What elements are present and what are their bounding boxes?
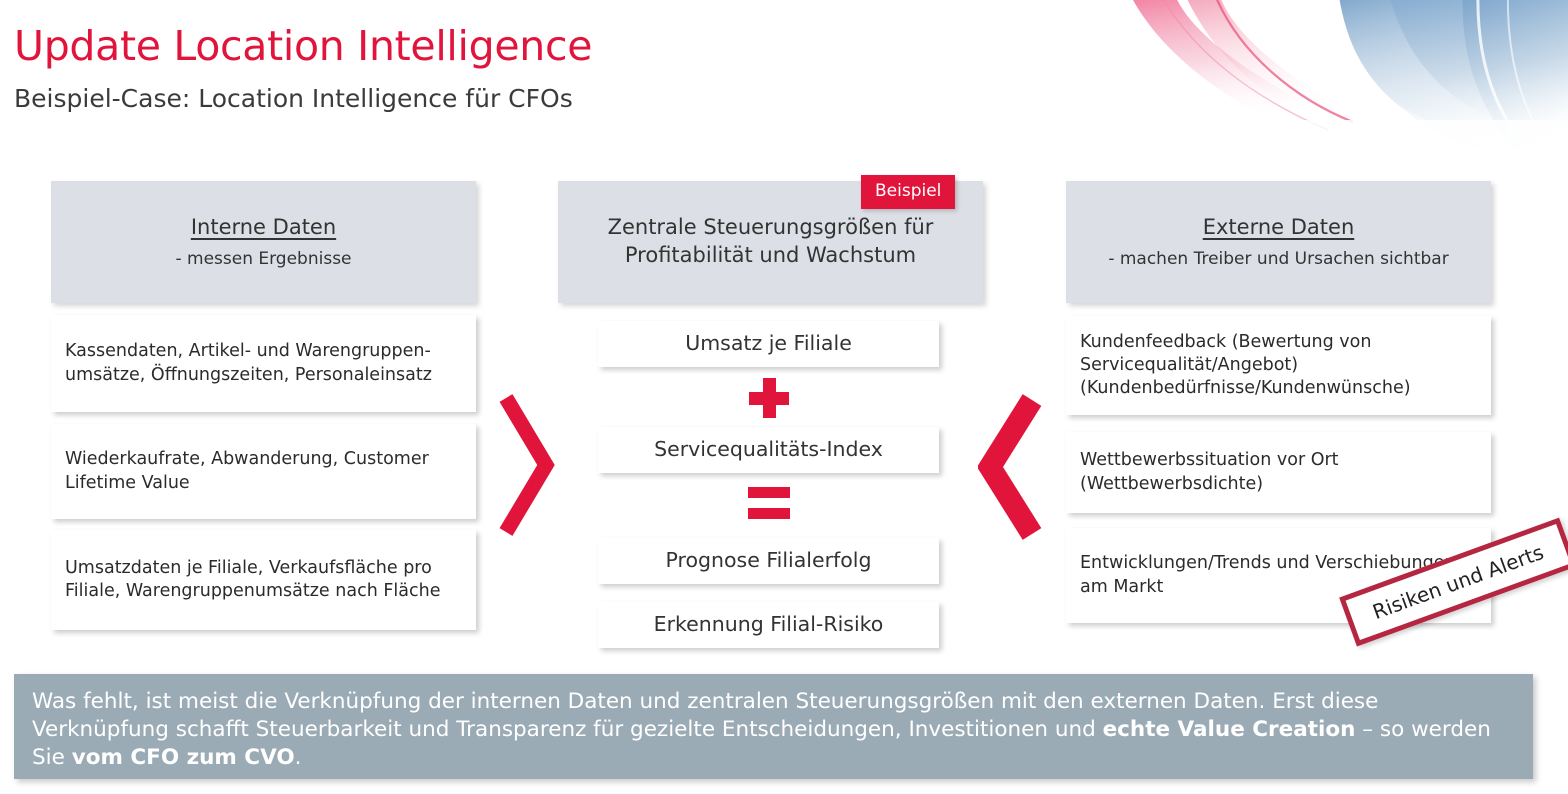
chevron-left-icon	[978, 392, 1048, 542]
page-title: Update Location Intelligence	[14, 22, 592, 70]
right-item-card[interactable]: Kundenfeedback (Bewertung von Servicequa…	[1066, 316, 1491, 415]
beispiel-badge-label: Beispiel	[875, 181, 941, 201]
left-column-header: Interne Daten - messen Ergebnisse	[51, 181, 476, 303]
left-item-label: Umsatzdaten je Filiale, Verkaufsfläche p…	[65, 557, 462, 604]
center-item-card[interactable]: Servicequalitäts-Index	[598, 427, 939, 473]
plus-operator-icon	[749, 378, 789, 418]
left-column-header-title: Interne Daten	[191, 215, 336, 239]
page-subtitle: Beispiel-Case: Location Intelligence für…	[14, 84, 573, 113]
banner-text-bold2: vom CFO zum CVO	[72, 745, 295, 770]
center-column-header-line1: Zentrale Steuerungsgrößen für	[608, 214, 934, 242]
left-item-card[interactable]: Kassendaten, Artikel- und Warengruppen-u…	[51, 315, 476, 412]
center-item-card[interactable]: Prognose Filialerfolg	[598, 538, 939, 584]
left-column-header-subtitle: - messen Ergebnisse	[175, 249, 351, 269]
right-column-header-title: Externe Daten	[1203, 215, 1355, 239]
left-item-card[interactable]: Umsatzdaten je Filiale, Verkaufsfläche p…	[51, 530, 476, 630]
left-item-label: Kassendaten, Artikel- und Warengruppen-u…	[65, 340, 462, 387]
right-item-card[interactable]: Wettbewerbssituation vor Ort (Wettbewerb…	[1066, 432, 1491, 513]
left-item-label: Wiederkaufrate, Abwanderung, Customer Li…	[65, 448, 462, 495]
right-column-header: Externe Daten - machen Treiber und Ursac…	[1066, 181, 1491, 303]
beispiel-badge: Beispiel	[861, 175, 955, 209]
right-item-label: Kundenfeedback (Bewertung von Servicequa…	[1080, 331, 1477, 401]
center-item-label: Erkennung Filial-Risiko	[654, 611, 884, 638]
right-item-label: Wettbewerbssituation vor Ort (Wettbewerb…	[1080, 449, 1477, 496]
left-item-card[interactable]: Wiederkaufrate, Abwanderung, Customer Li…	[51, 424, 476, 519]
chevron-right-icon	[494, 390, 564, 540]
center-item-label: Servicequalitäts-Index	[654, 436, 883, 463]
center-item-label: Prognose Filialerfolg	[665, 547, 871, 574]
equals-operator-icon	[748, 487, 790, 519]
right-column-header-subtitle: - machen Treiber und Ursachen sichtbar	[1108, 249, 1448, 269]
center-item-label: Umsatz je Filiale	[685, 330, 852, 357]
banner-text-part3: .	[295, 745, 302, 770]
banner-text-bold1: echte Value Creation	[1103, 717, 1356, 742]
center-column-header-line2: Profitabilität und Wachstum	[625, 242, 916, 270]
center-item-card[interactable]: Umsatz je Filiale	[598, 321, 939, 367]
center-item-card[interactable]: Erkennung Filial-Risiko	[598, 602, 939, 648]
summary-banner: Was fehlt, ist meist die Verknüpfung der…	[14, 674, 1533, 779]
decorative-ribbon-graphic	[1008, 0, 1568, 205]
